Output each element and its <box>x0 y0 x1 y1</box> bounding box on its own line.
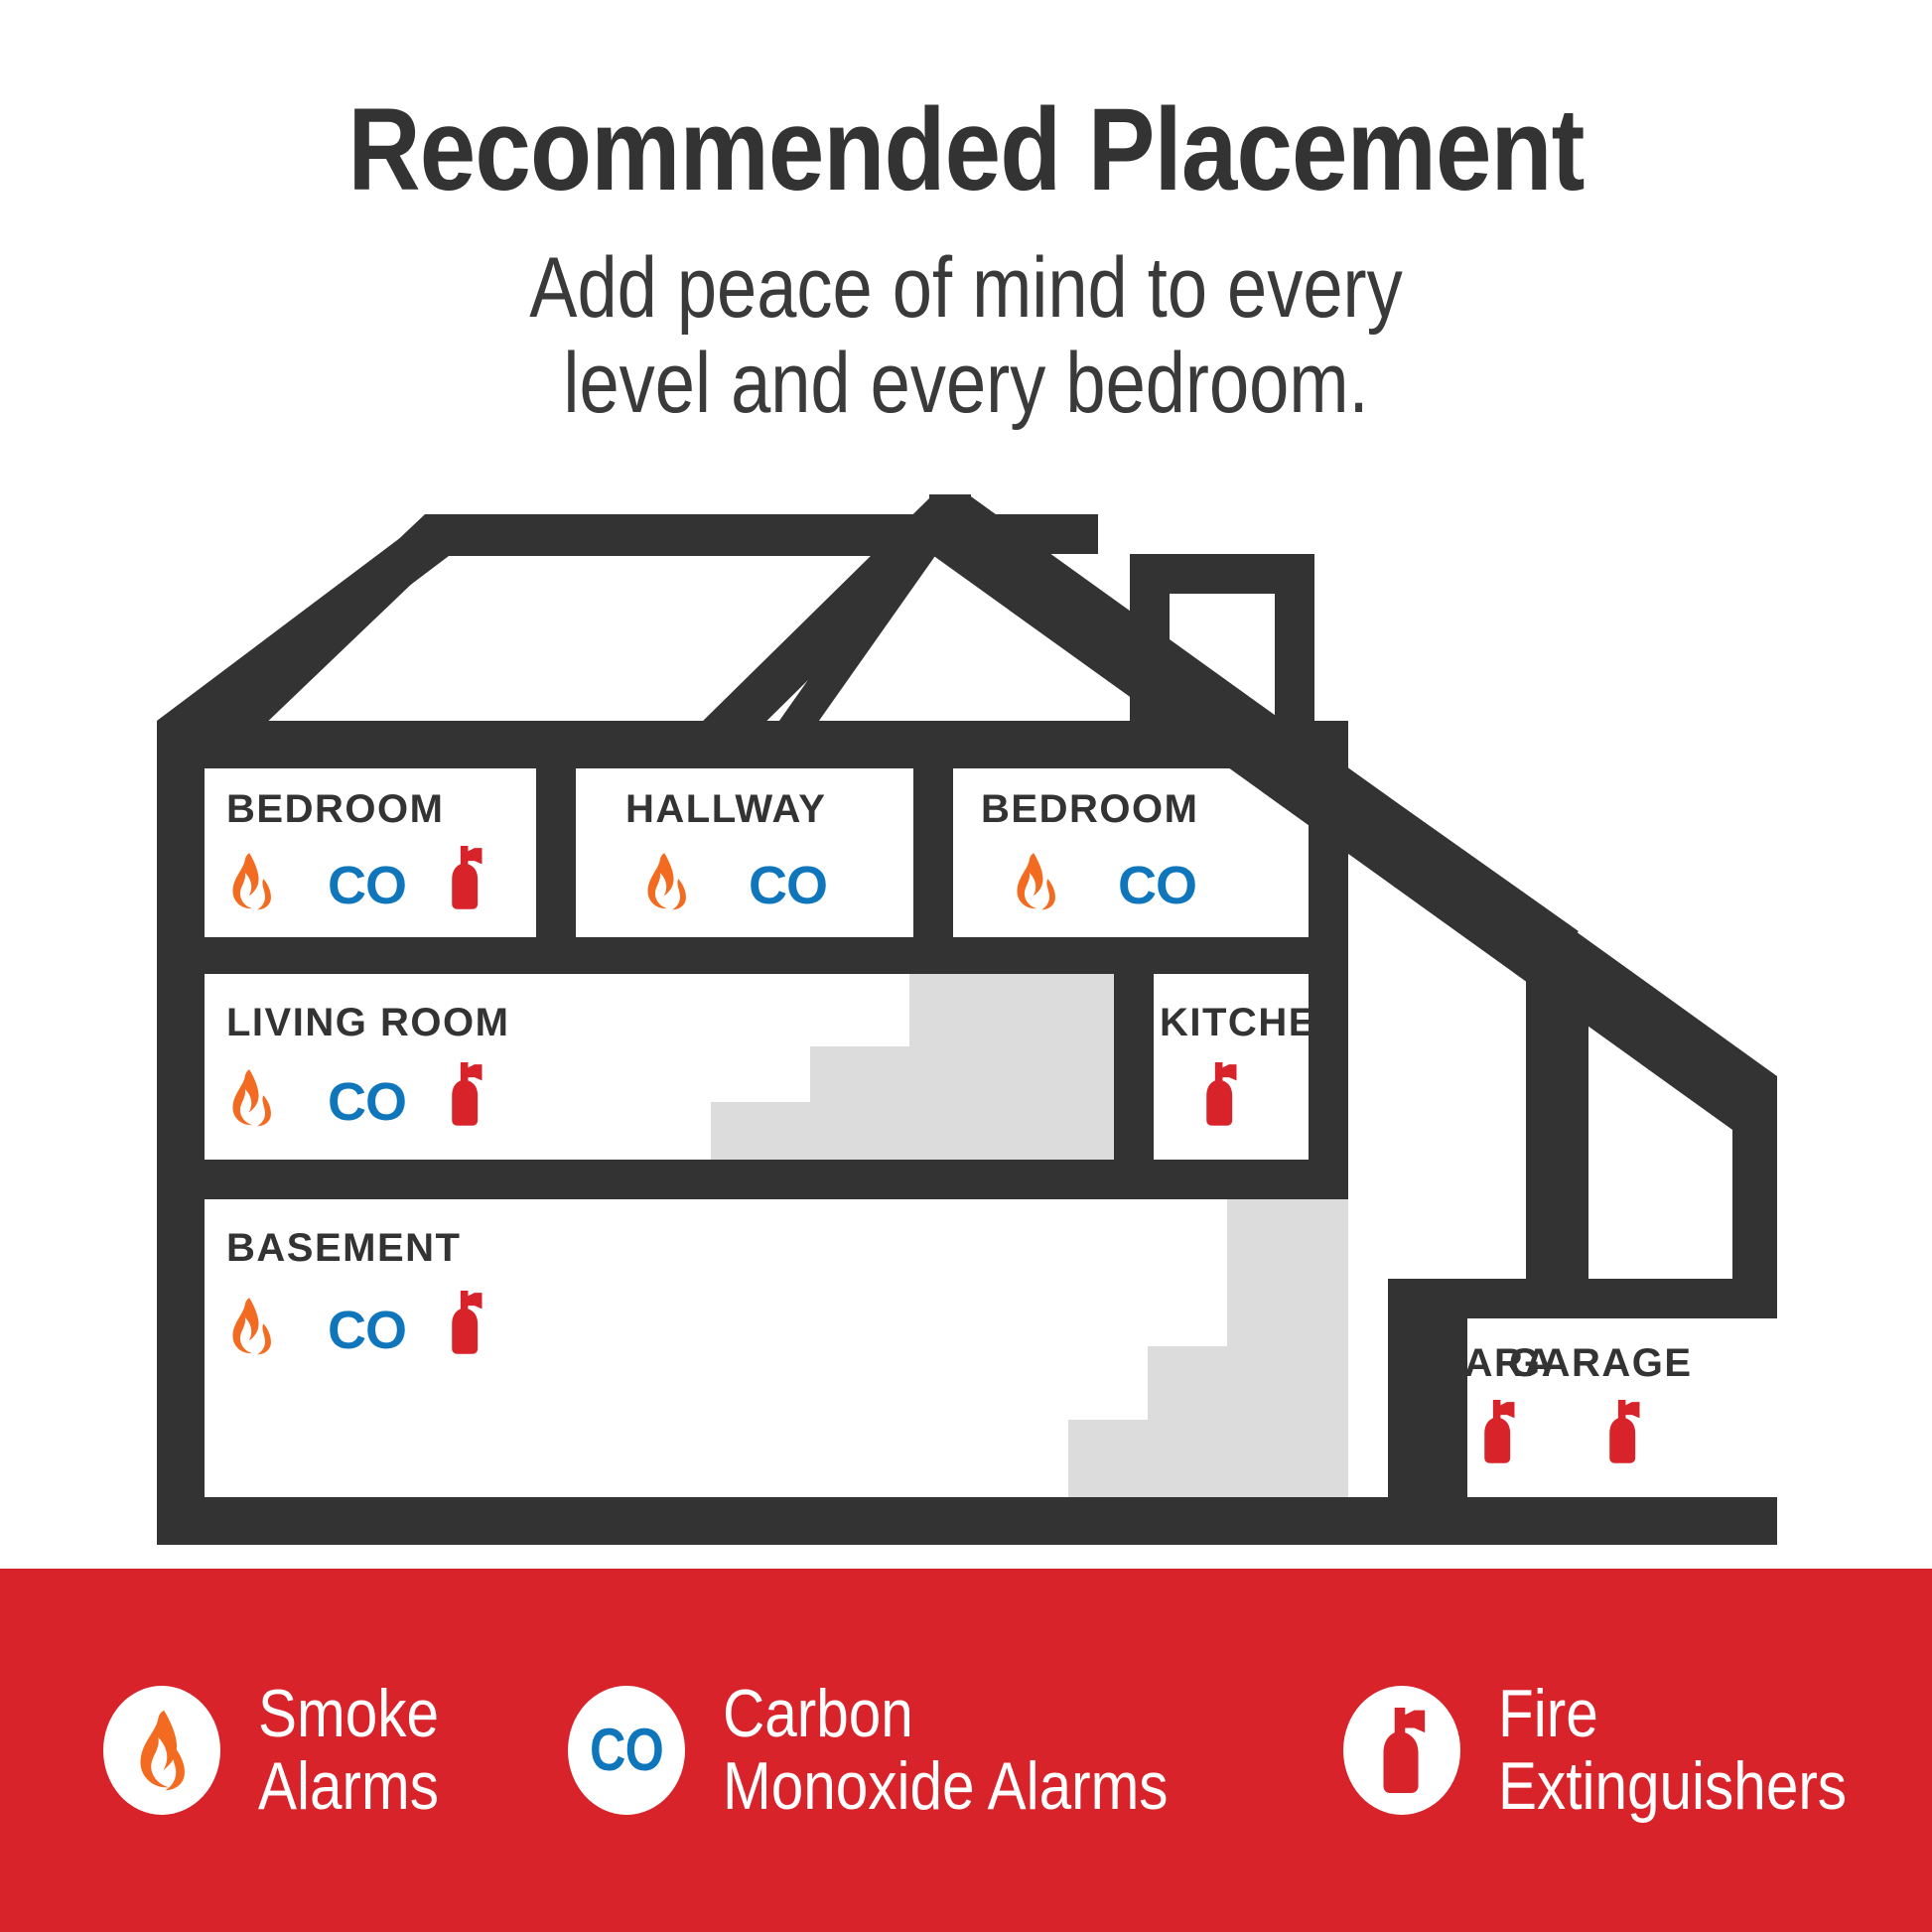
page-subtitle: Add peace of mind to every level and eve… <box>155 208 1778 432</box>
legend-banner: Smoke Alarms CO Carbon Monoxide Alarms <box>0 1569 1932 1932</box>
header: Recommended Placement Add peace of mind … <box>0 0 1932 432</box>
fire-extinguisher-icon <box>1343 1686 1460 1815</box>
co-alarm-icon: CO <box>568 1686 685 1815</box>
legend-item-co-alarms: CO Carbon Monoxide Alarms <box>568 1678 1241 1824</box>
co-alarm-icon: CO <box>749 856 827 915</box>
page-title: Recommended Placement <box>135 0 1797 208</box>
garage-left-wall <box>1428 1279 1467 1545</box>
smoke-alarm-icon <box>103 1686 220 1815</box>
room-label-basement: BASEMENT <box>226 1226 461 1270</box>
subtitle-line-1: Add peace of mind to every <box>155 240 1778 336</box>
legend-row: Smoke Alarms CO Carbon Monoxide Alarms <box>0 1569 1932 1932</box>
legend-smoke-line-2: Alarms <box>258 1750 439 1823</box>
legend-co-line-2: Monoxide Alarms <box>723 1750 1169 1823</box>
room-basement: BASEMENT CO <box>205 1199 1348 1497</box>
room-label-hallway: HALLWAY <box>625 787 826 831</box>
co-alarm-icon: CO <box>328 1072 406 1132</box>
legend-co-line-1: Carbon <box>723 1678 1169 1750</box>
legend-smoke-line-1: Smoke <box>258 1678 439 1750</box>
room-label-bedroom-left: BEDROOM <box>226 787 444 831</box>
house-diagram: BEDROOM CO HALLWAY CO BEDROOM CO <box>0 494 1932 1579</box>
infographic-root: Recommended Placement Add peace of mind … <box>0 0 1932 1932</box>
subtitle-line-2: level and every bedroom. <box>155 336 1778 431</box>
legend-label-co-alarms: Carbon Monoxide Alarms <box>723 1678 1169 1824</box>
garage-ceiling <box>1428 1279 1777 1318</box>
room-bedroom-right: BEDROOM CO <box>953 768 1309 937</box>
legend-label-fire-extinguishers: Fire Extinguishers <box>1498 1678 1847 1824</box>
legend-ext-line-2: Extinguishers <box>1498 1750 1847 1823</box>
co-alarm-icon: CO <box>328 1301 406 1360</box>
room-label-garage-text: GARAGE <box>1509 1341 1693 1385</box>
legend-item-fire-extinguishers: Fire Extinguishers <box>1343 1678 1903 1824</box>
co-alarm-icon: CO <box>1118 856 1196 915</box>
co-alarm-icon: CO <box>328 856 406 915</box>
house-base <box>157 1497 1777 1545</box>
co-badge-text: CO <box>590 1721 663 1780</box>
legend-item-smoke-alarms: Smoke Alarms <box>103 1678 469 1824</box>
legend-ext-line-1: Fire <box>1498 1678 1847 1750</box>
room-label-bedroom-right: BEDROOM <box>981 787 1198 831</box>
room-hallway: HALLWAY CO <box>576 768 913 937</box>
room-living-room: LIVING ROOM CO <box>205 974 1114 1160</box>
room-bedroom-left: BEDROOM CO <box>205 768 536 937</box>
room-label-kitchen: KITCHEN <box>1160 1001 1346 1044</box>
legend-label-smoke-alarms: Smoke Alarms <box>258 1678 439 1824</box>
room-label-living-room: LIVING ROOM <box>226 1001 509 1044</box>
